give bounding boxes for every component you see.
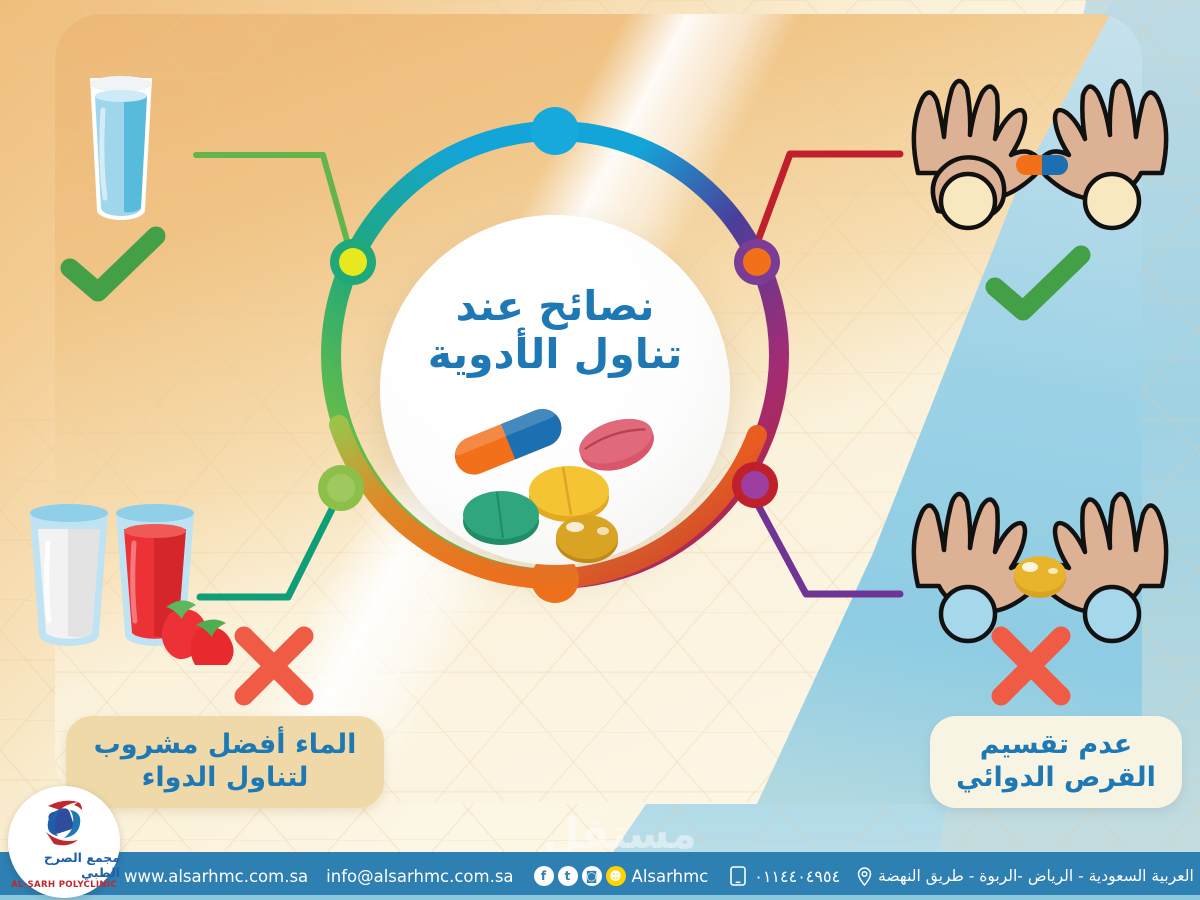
capsule-held-icon <box>1016 155 1068 175</box>
twitter-icon[interactable]: t <box>558 866 578 886</box>
caption-right-line-1: عدم تقسيم <box>956 729 1156 762</box>
infographic-poster: نصائح عند تناول الأدوية <box>0 0 1200 900</box>
illustration-milk-and-juice-glasses <box>20 495 240 665</box>
caption-box-right: عدم تقسيم القرص الدوائي <box>930 716 1182 808</box>
instagram-icon[interactable]: ◙ <box>582 866 602 886</box>
tablet-green-round-icon <box>463 491 539 545</box>
capsule-orange-blue-icon <box>449 405 567 480</box>
footer-address: المملكة العربية السعودية - الرياض -الربو… <box>856 867 1200 886</box>
ring-node-top <box>531 107 579 155</box>
footer-phone: ٠١١٤٤٠٤٩٥٤ <box>730 866 840 886</box>
tablet-yellow-round-icon <box>529 466 609 522</box>
clinic-logo: مجمع الصرح الطبي AL-SARH POLYCLINIC <box>8 786 120 898</box>
caption-left-line-2: لتناول الدواء <box>94 762 357 795</box>
checkmark-top-right-icon <box>985 245 1095 321</box>
glass-of-milk-icon <box>30 504 108 646</box>
footer-social-handle: Alsarhmc <box>632 867 709 886</box>
footer-phone-number: ٠١١٤٤٠٤٩٥٤ <box>754 867 840 886</box>
ring-node-lower-left-core <box>327 474 355 502</box>
caption-right-line-2: القرص الدوائي <box>956 762 1156 795</box>
footer-bottom-strip <box>0 895 1200 900</box>
page-title: نصائح عند تناول الأدوية <box>385 283 725 378</box>
phone-icon <box>730 866 746 886</box>
footer-bar: www.alsarhmc.com.sa info@alsarhmc.com.sa… <box>0 852 1200 900</box>
cross-bottom-left-icon <box>228 622 320 710</box>
snapchat-icon[interactable]: ☻ <box>606 866 626 886</box>
ring-node-lower-right-core <box>741 471 769 499</box>
location-pin-icon <box>856 867 873 886</box>
central-ring-diagram: نصائح عند تناول الأدوية <box>305 105 805 625</box>
footer-address-text: المملكة العربية السعودية - الرياض -الربو… <box>878 867 1200 885</box>
page-title-line-2: تناول الأدوية <box>385 331 725 379</box>
logo-monogram-icon <box>34 796 94 848</box>
caption-left-line-1: الماء أفضل مشروب <box>94 729 357 762</box>
ring-node-upper-right-core <box>743 248 771 276</box>
footer-email[interactable]: info@alsarhmc.com.sa <box>326 867 513 886</box>
page-title-line-1: نصائح عند <box>385 283 725 331</box>
pills-illustration <box>435 405 685 565</box>
footer-social-icons: f t ◙ ☻ <box>534 866 626 886</box>
cross-bottom-right-icon <box>985 622 1077 710</box>
footer-website[interactable]: www.alsarhmc.com.sa <box>124 867 308 886</box>
caption-box-left: الماء أفضل مشروب لتناول الدواء <box>66 716 384 808</box>
ring-node-upper-left-core <box>339 248 367 276</box>
softgel-held-icon <box>1014 556 1066 598</box>
logo-arabic-name: مجمع الصرح الطبي <box>8 850 120 880</box>
logo-english-name: AL-SARH POLYCLINIC <box>11 880 117 890</box>
checkmark-top-left-icon <box>60 226 170 302</box>
softgel-gold-icon <box>556 515 618 563</box>
facebook-icon[interactable]: f <box>534 866 554 886</box>
